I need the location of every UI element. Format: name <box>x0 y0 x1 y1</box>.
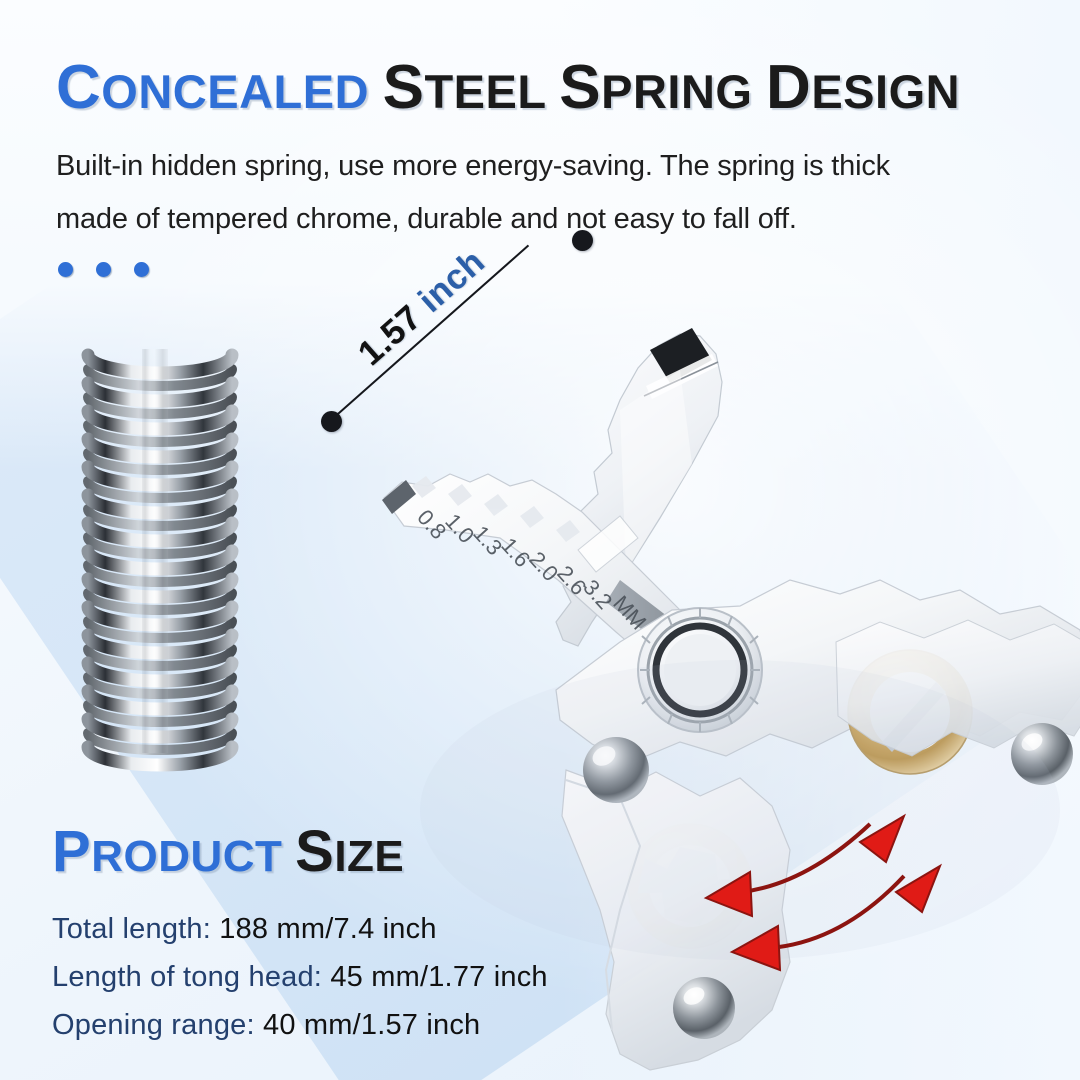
dimension-endpoint-end <box>572 230 593 251</box>
coil-spring-image <box>70 325 280 775</box>
ball-rivet-bottom <box>673 977 735 1039</box>
dot-icon-1 <box>58 262 73 277</box>
spec-value-opening-range: 40 mm/1.57 inch <box>263 1009 480 1041</box>
opening-range-arrows <box>690 780 980 980</box>
title-dark-rest-1: TEEL <box>424 65 559 118</box>
title-dark-initial-2: S <box>559 53 601 122</box>
intro-paragraph-line-1: Built-in hidden spring, use more energy-… <box>56 140 996 193</box>
spec-row-total-length: Total length: 188 mm/7.4 inch <box>52 905 548 953</box>
spec-row-opening-range: Opening range: 40 mm/1.57 inch <box>52 1001 548 1049</box>
infographic-canvas: CONCEALED STEEL SPRING DESIGN Built-in h… <box>0 0 1080 1080</box>
dot-icon-3 <box>134 262 149 277</box>
spec-value-total-length: 188 mm/7.4 inch <box>219 913 436 945</box>
title-blue-initial: C <box>56 53 101 122</box>
section2-dark-rest: IZE <box>334 832 404 881</box>
title-dark-initial-3: D <box>766 53 811 122</box>
product-spec-list: Total length: 188 mm/7.4 inch Length of … <box>52 905 548 1049</box>
dot-icon-2 <box>96 262 111 277</box>
title-dark-initial-1: S <box>383 53 425 122</box>
section2-dark-initial: S <box>295 819 334 884</box>
title-dark-rest-2: PRING <box>601 65 766 118</box>
arrow-upper <box>706 816 904 916</box>
title-dark-rest-3: ESIGN <box>811 65 960 118</box>
decorative-dots <box>58 262 149 277</box>
arrow-lower <box>732 866 940 970</box>
title-blue-rest: ONCEALED <box>101 65 369 118</box>
section-title-product-size: PRODUCT SIZE <box>52 818 404 885</box>
spec-label-tong-head: Length of tong head: <box>52 961 322 993</box>
section2-blue-rest: RODUCT <box>91 832 282 881</box>
spec-row-tong-head: Length of tong head: 45 mm/1.77 inch <box>52 953 548 1001</box>
spec-label-opening-range: Opening range: <box>52 1009 255 1041</box>
page-title: CONCEALED STEEL SPRING DESIGN <box>56 52 960 123</box>
spec-label-total-length: Total length: <box>52 913 211 945</box>
section2-blue-initial: P <box>52 819 91 884</box>
spec-value-tong-head: 45 mm/1.77 inch <box>330 961 547 993</box>
